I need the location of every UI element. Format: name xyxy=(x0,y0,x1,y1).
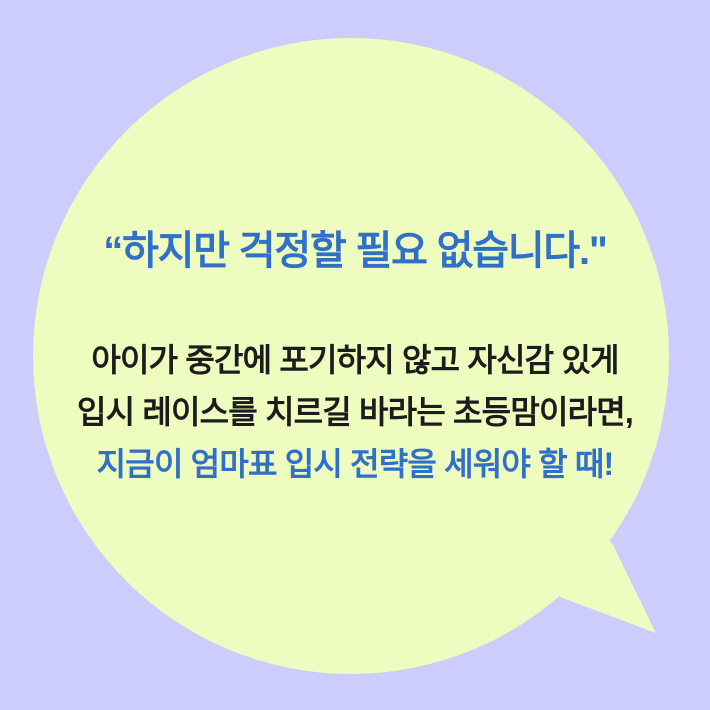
body-line-2: 입시 레이스를 치르길 바라는 초등맘이라면, xyxy=(0,386,710,438)
speech-bubble-card: “하지만 걱정할 필요 없습니다." 아이가 중간에 포기하지 않고 자신감 있… xyxy=(0,0,710,710)
bubble-content: “하지만 걱정할 필요 없습니다." 아이가 중간에 포기하지 않고 자신감 있… xyxy=(0,0,710,710)
body-text-block: 아이가 중간에 포기하지 않고 자신감 있게 입시 레이스를 치르길 바라는 초… xyxy=(0,334,710,490)
body-line-3-accent: 지금이 엄마표 입시 전략을 세워야 할 때! xyxy=(0,438,710,490)
headline-quote: “하지만 걱정할 필요 없습니다." xyxy=(0,228,710,274)
body-line-1: 아이가 중간에 포기하지 않고 자신감 있게 xyxy=(0,334,710,386)
